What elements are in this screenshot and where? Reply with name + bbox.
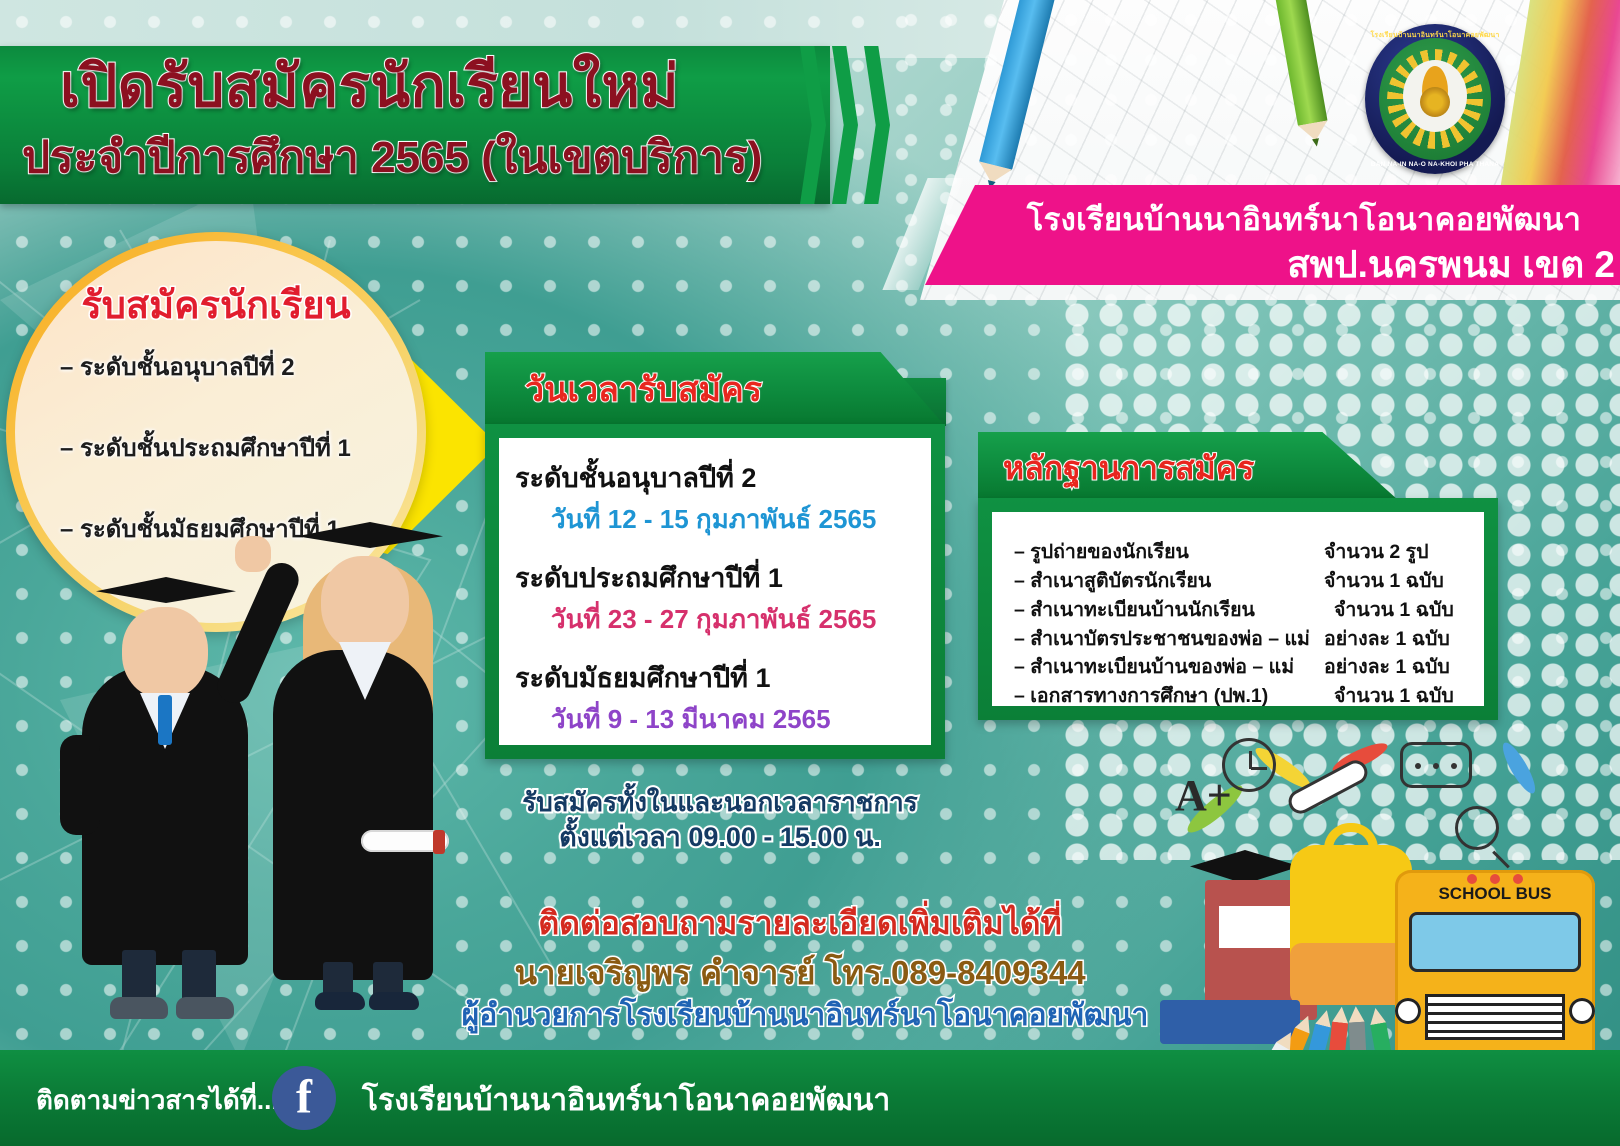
document-qty: อย่างละ 1 ฉบับ bbox=[1324, 653, 1450, 682]
poster-root: เปิดรับสมัครนักเรียนใหม่ ประจำปีการศึกษา… bbox=[0, 0, 1620, 1146]
date-entry: ระดับประถมศึกษาปีที่ 1 วันที่ 23 - 27 กุ… bbox=[515, 556, 915, 640]
student-girl-illustration bbox=[235, 500, 465, 1005]
bus-sign-label: SCHOOL BUS bbox=[1423, 882, 1567, 906]
document-name: – สำเนาทะเบียนบ้านของพ่อ – แม่ bbox=[1014, 653, 1324, 682]
document-row: – สำเนาสูติบัตรนักเรียน จำนวน 1 ฉบับ bbox=[1014, 567, 1464, 596]
document-name: – สำเนาทะเบียนบ้านนักเรียน bbox=[1014, 596, 1324, 625]
dates-panel: ระดับชั้นอนุบาลปีที่ 2 วันที่ 12 - 15 กุ… bbox=[485, 424, 945, 759]
facebook-page-name: โรงเรียนบ้านนาอินทร์นาโอนาคอยพัฒนา bbox=[362, 1077, 890, 1124]
document-name: – รูปถ่ายของนักเรียน bbox=[1014, 538, 1324, 567]
speech-bubble-icon bbox=[1400, 742, 1472, 788]
school-bus-icon: SCHOOL BUS bbox=[1395, 870, 1595, 1070]
backpack-icon bbox=[1290, 845, 1412, 1005]
document-qty: จำนวน 2 รูป bbox=[1324, 538, 1429, 567]
hours-line-2: ตั้งแต่เวลา 09.00 - 15.00 น. bbox=[490, 815, 950, 858]
documents-panel-title: หลักฐานการสมัคร bbox=[1003, 443, 1254, 494]
date-range: วันที่ 12 - 15 กุมภาพันธ์ 2565 bbox=[515, 499, 915, 540]
contact-position: ผู้อำนวยการโรงเรียนบ้านนาอินทร์นาโอนาคอย… bbox=[380, 992, 1230, 1039]
date-range: วันที่ 23 - 27 กุมภาพันธ์ 2565 bbox=[515, 599, 915, 640]
facebook-icon[interactable]: f bbox=[272, 1066, 336, 1130]
document-row: – สำเนาทะเบียนบ้านของพ่อ – แม่ อย่างละ 1… bbox=[1014, 653, 1464, 682]
blue-book-icon bbox=[1160, 1000, 1300, 1044]
contact-heading: ติดต่อสอบถามรายละเอียดเพิ่มเติมได้ที่ bbox=[400, 898, 1200, 949]
page-subtitle: ประจำปีการศึกษา 2565 (ในเขตบริการ) bbox=[22, 136, 812, 180]
date-range: วันที่ 9 - 13 มีนาคม 2565 bbox=[515, 699, 915, 740]
follow-label: ติดตามข่าวสารได้ที่... bbox=[36, 1080, 279, 1121]
school-name-banner: โรงเรียนบ้านนาอินทร์นาโอนาคอยพัฒนา สพป.น… bbox=[925, 185, 1620, 285]
logo-text-top: โรงเรียนบ้านนาอินทร์นาโอนาคอยพัฒนา bbox=[1365, 30, 1505, 41]
document-name: – เอกสารทางการศึกษา (ปพ.1) bbox=[1014, 682, 1324, 711]
documents-panel: – รูปถ่ายของนักเรียน จำนวน 2 รูป – สำเนา… bbox=[978, 498, 1498, 720]
document-row: – สำเนาทะเบียนบ้านนักเรียน จำนวน 1 ฉบับ bbox=[1014, 596, 1464, 625]
date-level: ระดับมัธยมศึกษาปีที่ 1 bbox=[515, 656, 915, 699]
document-row: – เอกสารทางการศึกษา (ปพ.1) จำนวน 1 ฉบับ bbox=[1014, 682, 1464, 711]
document-qty: จำนวน 1 ฉบับ bbox=[1324, 596, 1454, 625]
page-title: เปิดรับสมัครนักเรียนใหม่ bbox=[60, 58, 760, 116]
document-name: – สำเนาบัตรประชาชนของพ่อ – แม่ bbox=[1014, 625, 1324, 654]
clock-doodle-icon bbox=[1222, 738, 1276, 792]
date-entry: ระดับชั้นอนุบาลปีที่ 2 วันที่ 12 - 15 กุ… bbox=[515, 456, 915, 540]
chevron-arrow-3 bbox=[864, 46, 890, 204]
dates-panel-title: วันเวลารับสมัคร bbox=[525, 362, 762, 416]
document-qty: อย่างละ 1 ฉบับ bbox=[1324, 625, 1450, 654]
document-row: – สำเนาบัตรประชาชนของพ่อ – แม่ อย่างละ 1… bbox=[1014, 625, 1464, 654]
document-qty: จำนวน 1 ฉบับ bbox=[1324, 567, 1444, 596]
logo-text-bottom: BAN NA-IN NA-O NA-KHOI PHA THANA bbox=[1365, 161, 1505, 168]
level-item: – ระดับชั้นประถมศึกษาปีที่ 1 bbox=[60, 428, 404, 467]
facebook-glyph: f bbox=[296, 1069, 312, 1124]
footer-bar: ติดตามข่าวสารได้ที่... f โรงเรียนบ้านนาอ… bbox=[0, 1050, 1620, 1146]
date-level: ระดับประถมศึกษาปีที่ 1 bbox=[515, 556, 915, 599]
date-entry: ระดับมัธยมศึกษาปีที่ 1 วันที่ 9 - 13 มีน… bbox=[515, 656, 915, 740]
document-row: – รูปถ่ายของนักเรียน จำนวน 2 รูป bbox=[1014, 538, 1464, 567]
chevron-arrow-2 bbox=[832, 46, 858, 204]
a-plus-doodle-icon: A+ bbox=[1175, 770, 1232, 821]
document-qty: จำนวน 1 ฉบับ bbox=[1324, 682, 1454, 711]
document-name: – สำเนาสูติบัตรนักเรียน bbox=[1014, 567, 1324, 596]
school-logo-icon: โรงเรียนบ้านนาอินทร์นาโอนาคอยพัฒนา BAN N… bbox=[1365, 24, 1505, 174]
date-level: ระดับชั้นอนุบาลปีที่ 2 bbox=[515, 456, 915, 499]
levels-panel-title: รับสมัครนักเรียน bbox=[6, 274, 426, 335]
level-item: – ระดับชั้นอนุบาลปีที่ 2 bbox=[60, 347, 404, 386]
magnifier-icon bbox=[1455, 806, 1499, 850]
